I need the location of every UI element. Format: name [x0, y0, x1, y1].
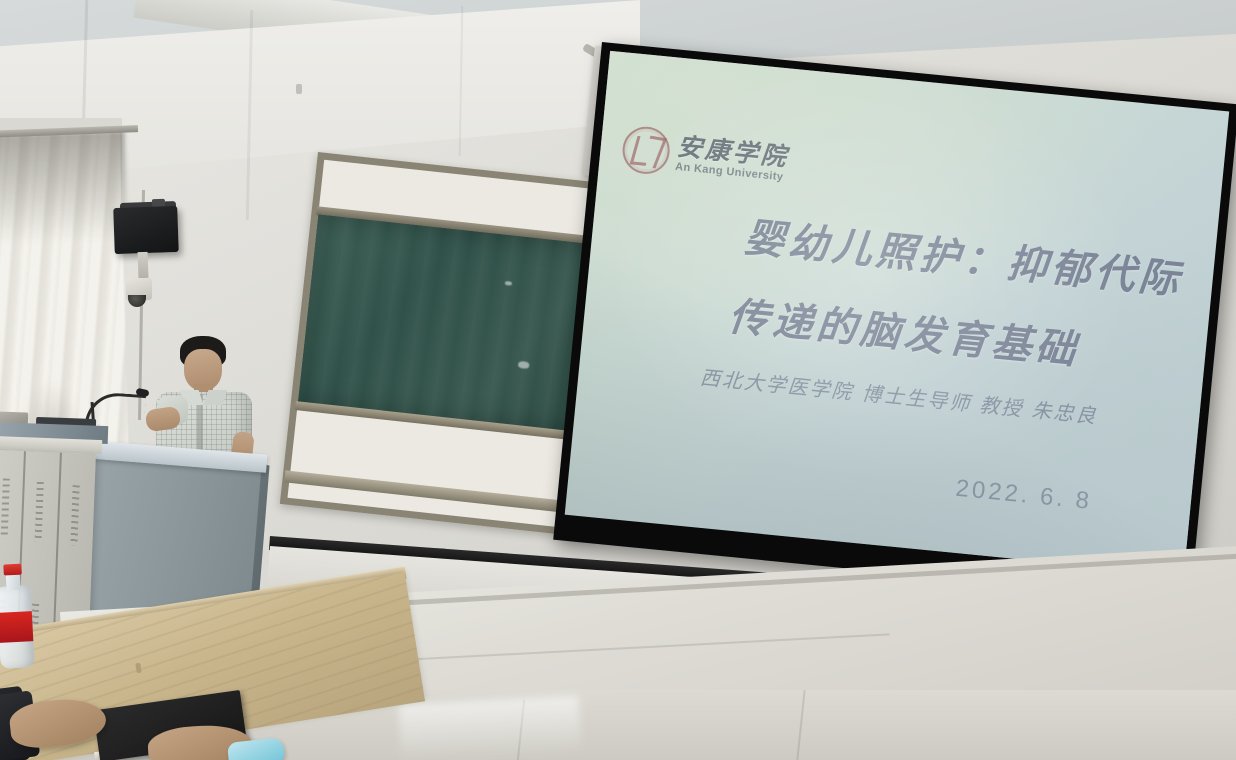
cabinet-vent	[35, 482, 44, 542]
chalkboard-surface	[298, 214, 608, 434]
bottle-label	[0, 611, 33, 643]
speaker-bracket	[138, 252, 149, 278]
slide-title: 婴幼儿照护：抑郁代际 传递的脑发育基础	[623, 194, 1194, 386]
university-seal-icon	[620, 125, 671, 176]
chalk-smudge	[518, 361, 530, 369]
projection-screen: 安康学院 An Kang University 婴幼儿照护：抑郁代际 传递的脑发…	[553, 42, 1236, 602]
cabinet-vent	[70, 485, 79, 545]
slide-surface: 安康学院 An Kang University 婴幼儿照护：抑郁代际 传递的脑发…	[565, 51, 1230, 575]
slide-date: 2022. 6. 8	[898, 469, 1150, 521]
university-logo-text: 安康学院 An Kang University	[675, 134, 790, 184]
wall-mark	[296, 84, 302, 94]
curtain-shading	[0, 131, 128, 245]
chalk-smudge	[505, 281, 512, 286]
bottle-cap[interactable]	[3, 564, 22, 576]
wall-speaker-icon	[113, 206, 179, 254]
floor-reflection	[399, 695, 582, 760]
water-bottle[interactable]	[0, 563, 35, 669]
lecture-hall-photo: 安康学院 An Kang University 婴幼儿照护：抑郁代际 传递的脑发…	[0, 0, 1236, 760]
cabinet-vent	[1, 478, 10, 538]
